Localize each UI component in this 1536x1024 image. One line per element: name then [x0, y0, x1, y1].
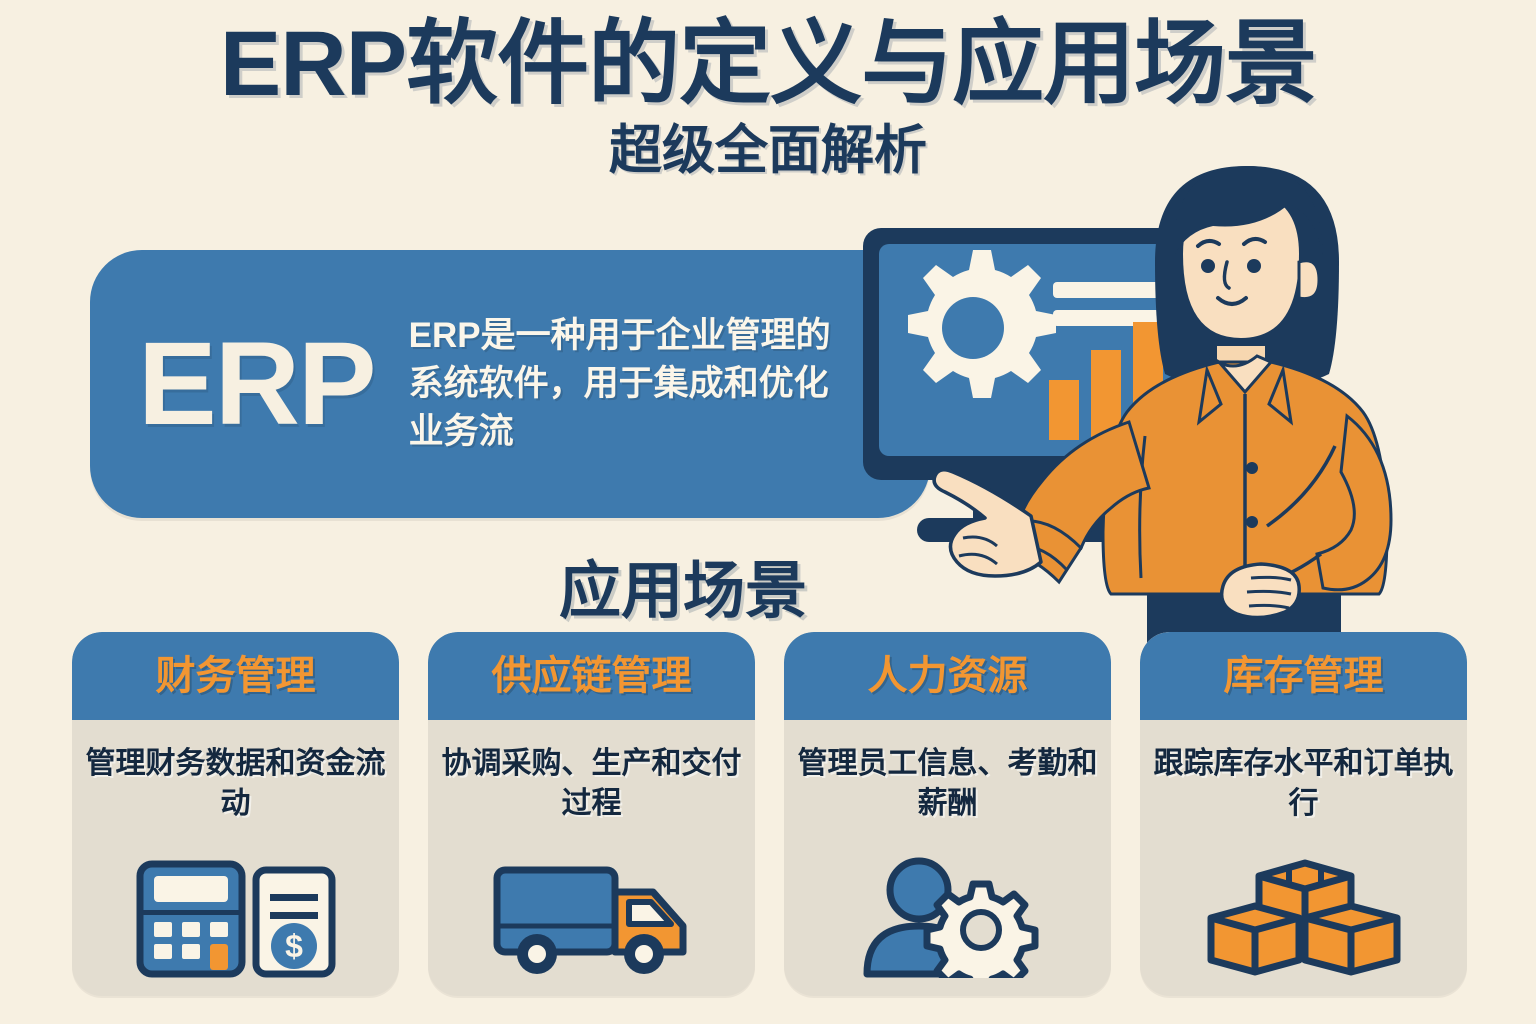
card-description: 管理财务数据和资金流动 — [72, 744, 399, 824]
card-human-resources[interactable]: 人力资源 管理员工信息、考勤和薪酬 — [784, 632, 1111, 996]
section-heading-label: 应用场景 — [559, 540, 807, 630]
erp-definition-text: ERP是一种用于企业管理的系统软件，用于集成和优化业务流 — [409, 312, 839, 457]
card-header: 供应链管理 — [428, 632, 755, 720]
card-financial-management[interactable]: 财务管理 管理财务数据和资金流动 $ — [72, 632, 399, 996]
calculator-and-invoice-icon: $ — [136, 856, 336, 978]
card-description: 管理员工信息、考勤和薪酬 — [784, 744, 1111, 824]
erp-definition-banner: ERP ERP是一种用于企业管理的系统软件，用于集成和优化业务流 — [90, 250, 930, 518]
card-title: 人力资源 — [868, 656, 1028, 696]
person-gear-icon — [853, 856, 1043, 978]
gear-icon — [908, 250, 1056, 398]
card-description: 跟踪库存水平和订单执行 — [1140, 744, 1467, 824]
card-header: 财务管理 — [72, 632, 399, 720]
hero-illustration — [855, 150, 1536, 670]
svg-text:$: $ — [285, 928, 303, 964]
application-scenario-cards: 财务管理 管理财务数据和资金流动 $ — [72, 632, 1467, 996]
card-inventory-management[interactable]: 库存管理 跟踪库存水平和订单执行 — [1140, 632, 1467, 996]
card-title: 财务管理 — [156, 656, 316, 696]
stacked-boxes-icon — [1201, 856, 1407, 978]
delivery-truck-icon — [489, 856, 695, 978]
page-title: ERP软件的定义与应用场景 — [0, 18, 1536, 110]
card-supply-chain-management[interactable]: 供应链管理 协调采购、生产和交付过程 — [428, 632, 755, 996]
card-title: 供应链管理 — [492, 656, 692, 696]
card-header: 人力资源 — [784, 632, 1111, 720]
erp-logo-text: ERP — [138, 325, 375, 443]
card-description: 协调采购、生产和交付过程 — [428, 744, 755, 824]
card-header: 库存管理 — [1140, 632, 1467, 720]
card-title: 库存管理 — [1224, 656, 1384, 696]
